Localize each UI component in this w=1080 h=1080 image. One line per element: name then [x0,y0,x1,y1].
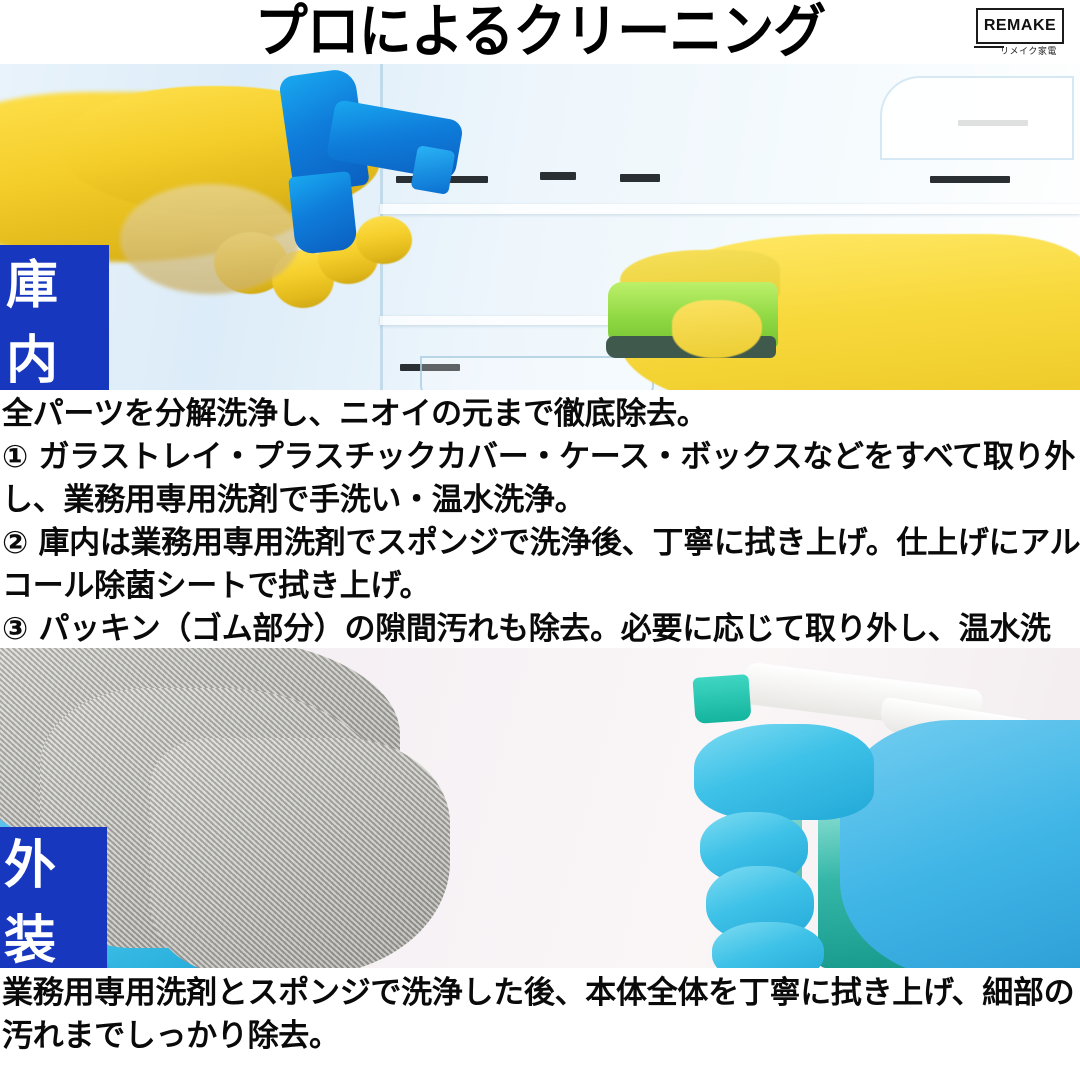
fridge-trim-bar [620,174,660,182]
remake-logo: REMAKE リメイク家電 [974,6,1074,56]
promo-page: プロによるクリーニング REMAKE リメイク家電 [0,0,1080,1080]
spray-bottle-tip [410,145,455,195]
yellow-glove-fingertip [672,300,762,358]
badge-exterior: 外装 [0,827,107,968]
page-header: プロによるクリーニング REMAKE リメイク家電 [0,0,1080,64]
fridge-shelf [380,204,1080,214]
logo-subtitle: リメイク家電 [1000,44,1072,56]
spray-bottle-trigger [288,171,358,255]
blue-glove-right-hand [840,720,1080,968]
fridge-wire-rack [420,356,654,390]
spray-bottle-body-blurred [120,184,300,294]
logo-brand: REMAKE [976,8,1064,44]
blue-glove-finger [712,922,824,968]
badge-interior: 庫内 [0,245,109,390]
microfiber-cloth-drape [150,738,450,968]
yellow-glove-finger [356,216,412,264]
page-title: プロによるクリーニング [0,0,1080,67]
photo-exterior-cleaning [0,648,1080,968]
fridge-trim-bar [930,176,1010,183]
fridge-door-bin [880,76,1074,160]
blue-glove-index-finger [694,724,874,820]
fridge-trim-bar [540,172,576,180]
body-paragraph-exterior: 業務用専用洗剤とスポンジで洗浄した後、本体全体を丁寧に拭き上げ、細部の汚れまでし… [2,972,1080,1058]
spray-bottle-nozzle-tip [692,674,751,724]
body-text-exterior: 業務用専用洗剤とスポンジで洗浄した後、本体全体を丁寧に拭き上げ、細部の汚れまでし… [0,972,1080,1058]
photo-interior-cleaning [0,64,1080,390]
